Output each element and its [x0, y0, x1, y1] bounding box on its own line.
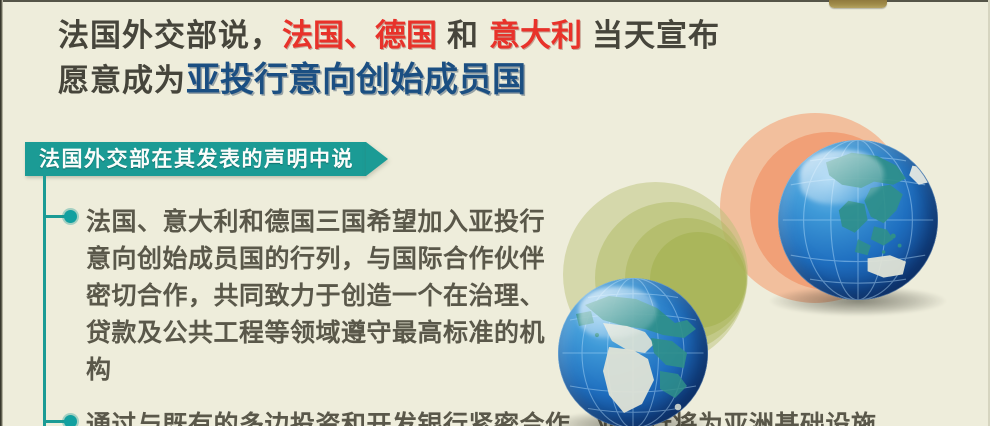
section-banner-body: 法国外交部在其发表的声明中说: [25, 142, 366, 176]
section-banner: 法国外交部在其发表的声明中说: [25, 142, 366, 176]
headline-line-2: 愿意成为亚投行意向创始成员国: [58, 58, 958, 102]
landmass-asia-oceania: [778, 140, 938, 300]
headline-text-highlight-countries: 法国、德国: [282, 18, 437, 54]
canvas-left-border: [0, 0, 3, 426]
globe-europe-africa-icon: [558, 278, 708, 426]
landmass-europe-africa: [558, 278, 708, 426]
bullet-dot-icon-1: [64, 210, 77, 223]
section-banner-label: 法国外交部在其发表的声明中说: [39, 142, 354, 176]
headline-text-conjunction: 和: [447, 18, 479, 54]
headline-text-highlight-italy: 意大利: [489, 18, 582, 54]
headline-text-plain-1: 法国外交部说，: [58, 18, 282, 54]
headline-text-plain-2: 当天宣布: [592, 18, 720, 54]
banner-arrow-icon: [366, 142, 388, 176]
headline-text-plain-3: 愿意成为: [58, 63, 186, 99]
headline-text-highlight-aiib: 亚投行意向创始成员国: [186, 60, 526, 100]
timeline-rail: [43, 176, 46, 426]
globes-illustration: [540, 110, 990, 426]
infographic-canvas: 法国外交部说，法国、德国和意大利当天宣布 愿意成为亚投行意向创始成员国 法国外交…: [0, 0, 990, 426]
bullet-dot-icon-2: [64, 415, 77, 426]
globe-asia-oceania-icon: [778, 140, 938, 300]
headline-line-1: 法国外交部说，法国、德国和意大利当天宣布: [58, 14, 958, 58]
top-tab-decoration: [829, 0, 887, 8]
headline: 法国外交部说，法国、德国和意大利当天宣布 愿意成为亚投行意向创始成员国: [58, 14, 958, 102]
bullet-paragraph-1: 法国、意大利和德国三国希望加入亚投行意向创始成员国的行列，与国际合作伙伴密切合作…: [86, 203, 556, 388]
